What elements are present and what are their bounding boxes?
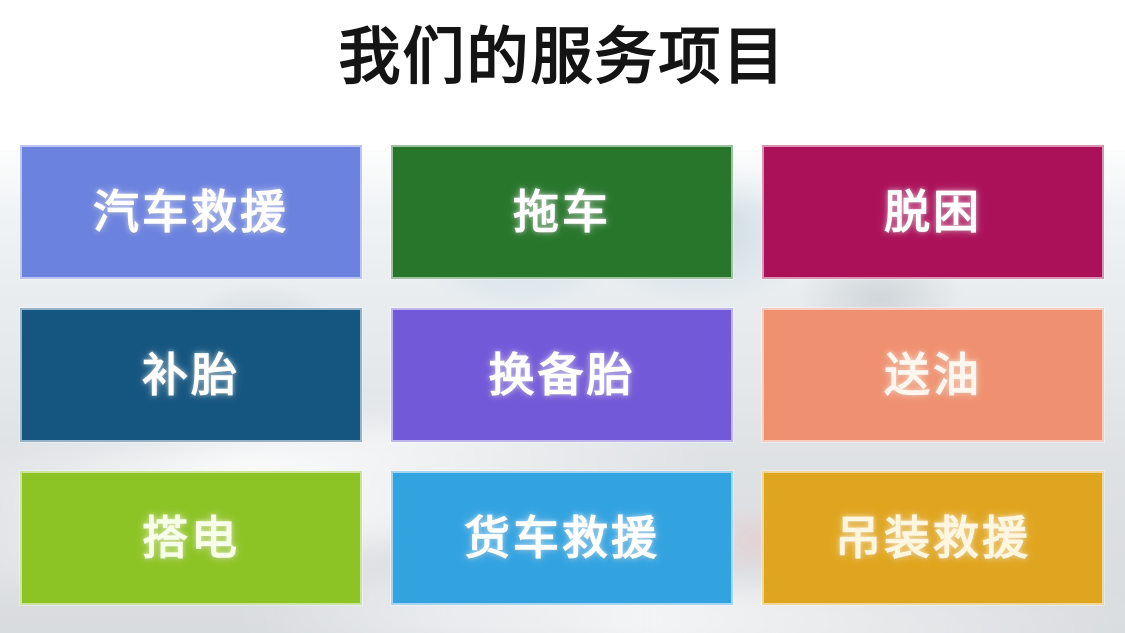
service-tile-label: 送油 <box>884 352 982 398</box>
service-tile[interactable]: 脱困 <box>762 145 1104 279</box>
service-tile-label: 拖车 <box>513 189 611 235</box>
service-tile[interactable]: 货车救援 <box>391 471 733 605</box>
service-tile-label: 汽车救援 <box>93 189 289 235</box>
page-title: 我们的服务项目 <box>0 24 1125 89</box>
service-tile-grid: 汽车救援拖车脱困补胎换备胎送油搭电货车救援吊装救援 <box>20 145 1104 615</box>
service-tile-label: 换备胎 <box>489 352 636 398</box>
service-tile-label: 搭电 <box>142 515 240 561</box>
service-tile-label: 吊装救援 <box>835 515 1031 561</box>
service-tile-label: 补胎 <box>142 352 240 398</box>
service-tile[interactable]: 拖车 <box>391 145 733 279</box>
service-tile[interactable]: 搭电 <box>20 471 362 605</box>
service-tile-label: 脱困 <box>884 189 982 235</box>
service-tile-label: 货车救援 <box>464 515 660 561</box>
service-tile[interactable]: 送油 <box>762 308 1104 442</box>
service-tile[interactable]: 换备胎 <box>391 308 733 442</box>
service-tile[interactable]: 吊装救援 <box>762 471 1104 605</box>
service-tile[interactable]: 补胎 <box>20 308 362 442</box>
service-tile[interactable]: 汽车救援 <box>20 145 362 279</box>
